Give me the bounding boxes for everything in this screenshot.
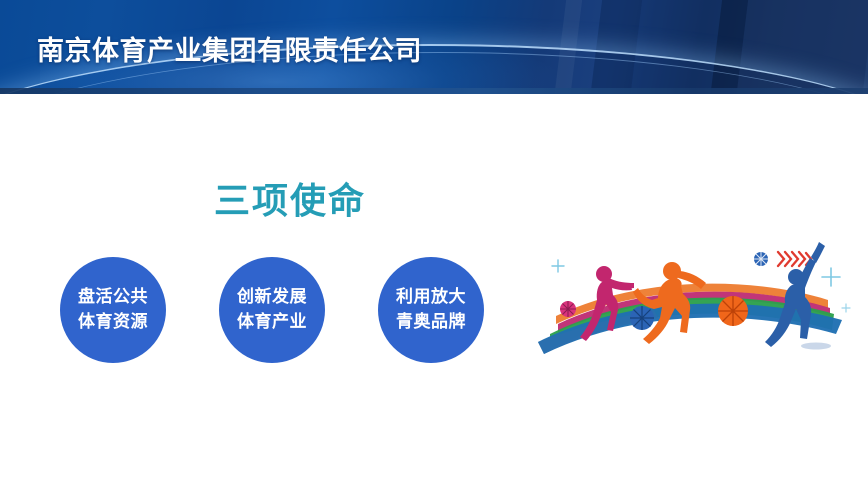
header-stripe-4 [733,0,868,94]
ball-dotted-blue-icon [754,252,768,266]
mission-circle-1-line1: 盘活公共 [78,285,148,310]
header-stripe-2 [627,0,724,94]
mission-circle-3-line2: 青奥品牌 [396,310,466,335]
ball-orange-icon [718,296,748,326]
sparkle-right-icon [822,268,840,286]
chevron-marks-icon [778,252,811,266]
sports-emblem-illustration [528,238,858,370]
slide-canvas: 南京体育产业集团有限责任公司 三项使命 盘活公共 体育资源 创新发展 体育产业 … [0,0,868,487]
mission-circle-1-line2: 体育资源 [78,310,148,335]
ball-pink-icon [560,301,576,317]
header-stripe-highlight [551,0,584,94]
ball-blue-icon [630,306,654,330]
mission-circle-2-line2: 体育产业 [237,310,307,335]
mission-circle-2-line1: 创新发展 [237,285,307,310]
company-name-title: 南京体育产业集团有限责任公司 [37,29,422,68]
header-bottom-line [0,88,868,94]
page-title: 三项使命 [214,172,366,224]
mission-circle-2[interactable]: 创新发展 体育产业 [219,257,325,363]
sparkle-small-icon [842,304,850,312]
mission-circle-3[interactable]: 利用放大 青奥品牌 [378,257,484,363]
sparkle-left-icon [552,260,564,272]
mission-circle-1[interactable]: 盘活公共 体育资源 [60,257,166,363]
slide-header-banner: 南京体育产业集团有限责任公司 [0,0,868,94]
mission-circle-3-line1: 利用放大 [396,285,466,310]
